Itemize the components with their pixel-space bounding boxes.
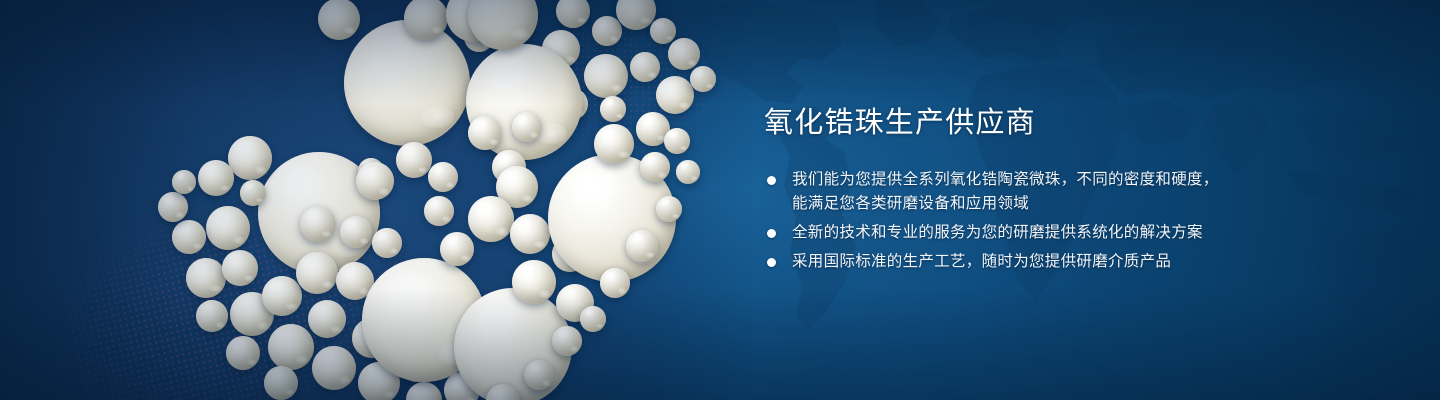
banner-content: 氧化锆珠生产供应商 我们能为您提供全系列氧化锆陶瓷微珠，不同的密度和硬度， 能满… <box>764 104 1364 274</box>
list-item-line: 采用国际标准的生产工艺，随时为您提供研磨介质产品 <box>792 250 1364 274</box>
feature-list: 我们能为您提供全系列氧化锆陶瓷微珠，不同的密度和硬度， 能满足您各类研磨设备和应… <box>764 168 1364 274</box>
list-item-line: 能满足您各类研磨设备和应用领域 <box>792 192 1364 216</box>
list-item: 全新的技术和专业的服务为您的研磨提供系统化的解决方案 <box>764 221 1364 245</box>
list-item: 采用国际标准的生产工艺，随时为您提供研磨介质产品 <box>764 250 1364 274</box>
bullet-dot-icon <box>767 258 776 267</box>
list-item-line: 全新的技术和专业的服务为您的研磨提供系统化的解决方案 <box>792 221 1364 245</box>
bullet-dot-icon <box>767 229 776 238</box>
bullet-dot-icon <box>767 176 776 185</box>
promo-banner: 氧化锆珠生产供应商 我们能为您提供全系列氧化锆陶瓷微珠，不同的密度和硬度， 能满… <box>0 0 1440 400</box>
page-title: 氧化锆珠生产供应商 <box>764 104 1364 142</box>
list-item: 我们能为您提供全系列氧化锆陶瓷微珠，不同的密度和硬度， 能满足您各类研磨设备和应… <box>764 168 1364 216</box>
list-item-line: 我们能为您提供全系列氧化锆陶瓷微珠，不同的密度和硬度， <box>792 168 1364 192</box>
